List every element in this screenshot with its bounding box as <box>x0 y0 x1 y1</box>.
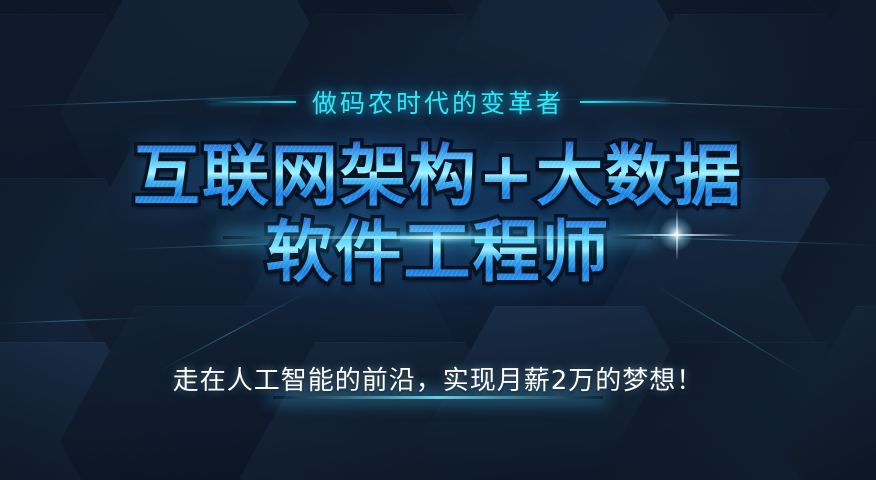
title-line-1: 互联网架构+大数据 互联网架构+大数据 <box>0 142 876 210</box>
title-line-1-text: 互联网架构+大数据 <box>133 137 743 215</box>
tagline-rule-left-icon <box>208 101 296 103</box>
promotional-banner: 做码农时代的变革者 互联网架构+大数据 互联网架构+大数据 软件工程师 软件工程… <box>0 0 876 480</box>
main-title-block: 互联网架构+大数据 互联网架构+大数据 软件工程师 软件工程师 <box>0 142 876 287</box>
tagline-row: 做码农时代的变革者 <box>0 84 876 120</box>
tagline-text: 做码农时代的变革者 <box>312 84 564 120</box>
tagline-rule-right-icon <box>580 101 668 103</box>
title-line-2: 软件工程师 软件工程师 <box>0 218 876 286</box>
title-line-2-text: 软件工程师 <box>266 213 611 291</box>
subtitle-text: 走在人工智能的前沿，实现月薪2万的梦想！ <box>0 360 876 397</box>
